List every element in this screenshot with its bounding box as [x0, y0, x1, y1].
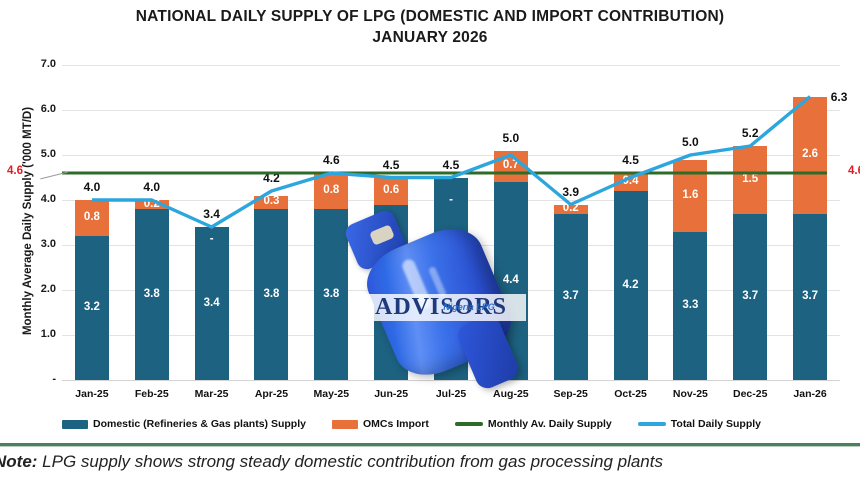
x-axis-labels: Jan-25Feb-25Mar-25Apr-25May-25Jun-25Jul-… [62, 388, 840, 408]
average-label-left: 4.6 [7, 165, 23, 177]
x-axis-tick-label: Jun-25 [360, 388, 422, 400]
chart-page: NATIONAL DAILY SUPPLY OF LPG (DOMESTIC A… [0, 0, 860, 484]
legend-swatch-icon [332, 420, 358, 429]
x-axis-tick-label: Nov-25 [659, 388, 721, 400]
footer-divider-thin [0, 446, 860, 447]
total-daily-supply-line [92, 97, 810, 228]
plot-area: 3.20.84.03.80.24.03.4-3.43.80.34.23.80.8… [62, 60, 840, 385]
x-axis-tick-label: Oct-25 [600, 388, 662, 400]
y-axis-tick: 3.0 [0, 238, 56, 250]
chart-title: NATIONAL DAILY SUPPLY OF LPG (DOMESTIC A… [0, 6, 860, 49]
footer-note-text: LPG supply shows strong steady domestic … [37, 452, 663, 471]
x-axis-tick-label: Jan-25 [61, 388, 123, 400]
x-axis-tick-label: May-25 [300, 388, 362, 400]
y-axis-tick: 1.0 [0, 328, 56, 340]
x-axis-tick-label: Feb-25 [121, 388, 183, 400]
x-axis-tick-label: Jul-25 [420, 388, 482, 400]
y-axis-tick: 6.0 [0, 103, 56, 115]
watermark-subtext: Nigeria LPG [424, 302, 514, 312]
chart-legend: Domestic (Refineries & Gas plants) Suppl… [62, 414, 822, 434]
legend-item[interactable]: OMCs Import [332, 418, 429, 430]
legend-item[interactable]: Domestic (Refineries & Gas plants) Suppl… [62, 418, 306, 430]
y-axis-tick: 7.0 [0, 58, 56, 70]
x-axis-tick-label: Sep-25 [540, 388, 602, 400]
x-axis-tick-label: Aug-25 [480, 388, 542, 400]
legend-swatch-icon [62, 420, 88, 429]
legend-label: Monthly Av. Daily Supply [488, 418, 612, 430]
footer-note: Note: LPG supply shows strong steady dom… [0, 452, 860, 472]
y-axis-tick: 4.0 [0, 193, 56, 205]
x-axis-tick-label: Dec-25 [719, 388, 781, 400]
average-label-right: 4.6 [848, 165, 860, 177]
legend-item[interactable]: Monthly Av. Daily Supply [455, 418, 612, 430]
y-axis-tick: - [0, 373, 56, 385]
legend-line-icon [455, 422, 483, 426]
y-axis-tick: 5.0 [0, 148, 56, 160]
x-axis-tick-label: Jan-26 [779, 388, 841, 400]
y-axis-tick-labels: 7.06.05.04.03.02.01.0- [0, 60, 56, 385]
y-axis-tick: 2.0 [0, 283, 56, 295]
x-axis-tick-label: Mar-25 [181, 388, 243, 400]
legend-label: Total Daily Supply [671, 418, 761, 430]
footer-note-label: Note: [0, 452, 37, 471]
cylinder-base [454, 312, 521, 392]
legend-item[interactable]: Total Daily Supply [638, 418, 761, 430]
legend-label: OMCs Import [363, 418, 429, 430]
legend-label: Domestic (Refineries & Gas plants) Suppl… [93, 418, 306, 430]
legend-line-icon [638, 422, 666, 426]
x-axis-tick-label: Apr-25 [240, 388, 302, 400]
lpg-cylinder-image: ADVISORS Nigeria LPG [338, 210, 538, 388]
